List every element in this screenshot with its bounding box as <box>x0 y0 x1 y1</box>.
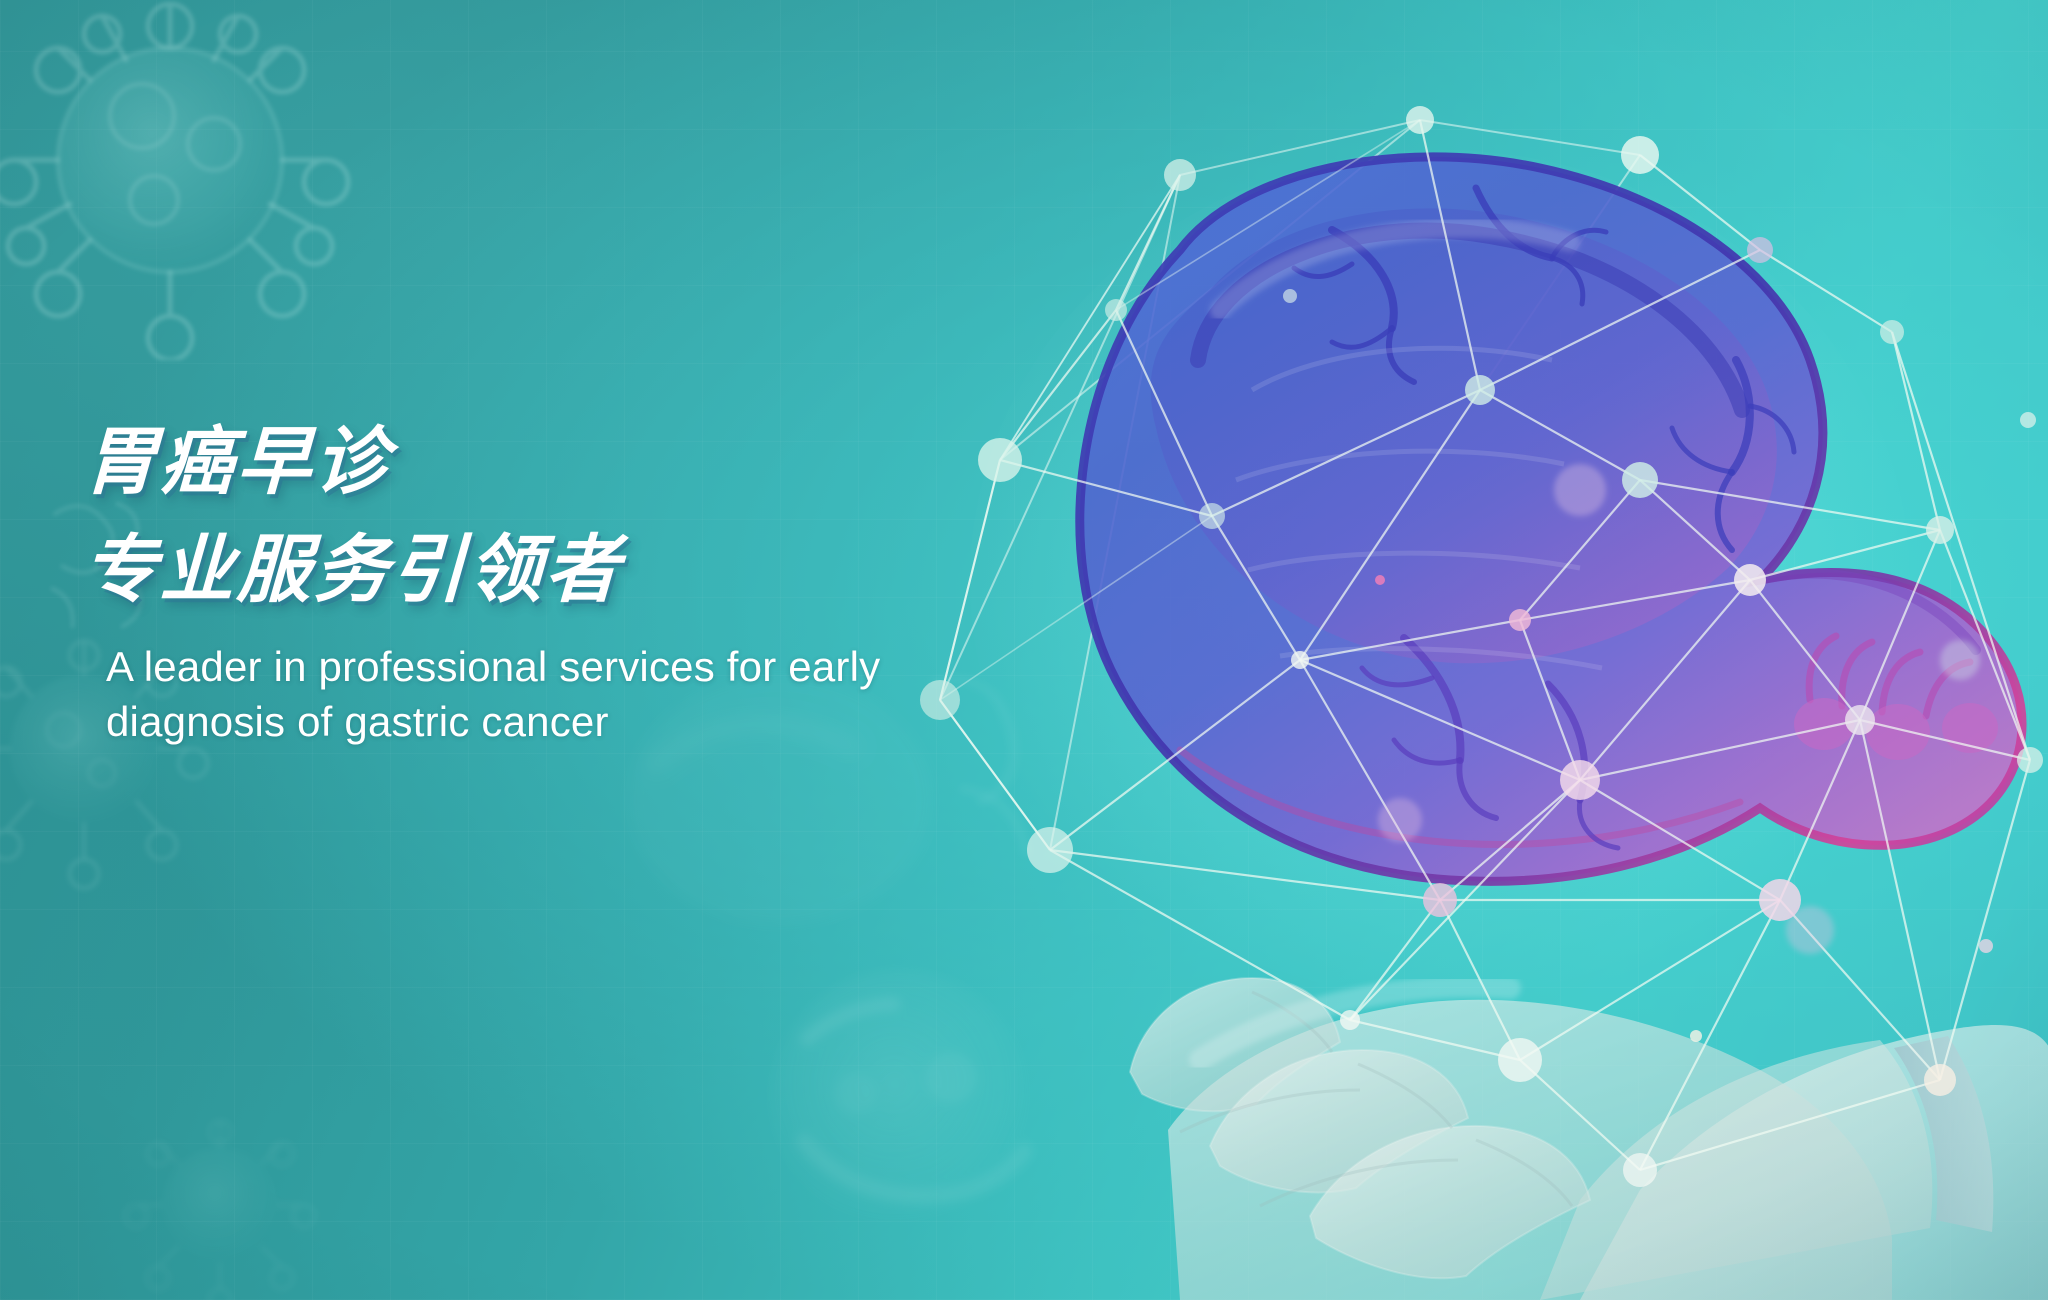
subheadline-line-1: A leader in professional services for ea… <box>106 640 946 695</box>
subheadline-line-2: diagnosis of gastric cancer <box>106 695 946 750</box>
hero-banner: 胃癌早诊 专业服务引领者 A leader in professional se… <box>0 0 2048 1300</box>
virus-particle-background-motif <box>120 1090 320 1300</box>
headline-chinese: 胃癌早诊 专业服务引领者 <box>83 408 983 624</box>
subheadline-english: A leader in professional services for ea… <box>106 640 946 749</box>
stomach-hand-network-illustration <box>880 60 2048 1300</box>
headline-line-1: 胃癌早诊 <box>81 408 985 516</box>
virus-particle-background-motif <box>0 0 380 360</box>
cell-bubble-background-motif <box>740 940 1060 1260</box>
headline-line-2: 专业服务引领者 <box>81 516 985 624</box>
